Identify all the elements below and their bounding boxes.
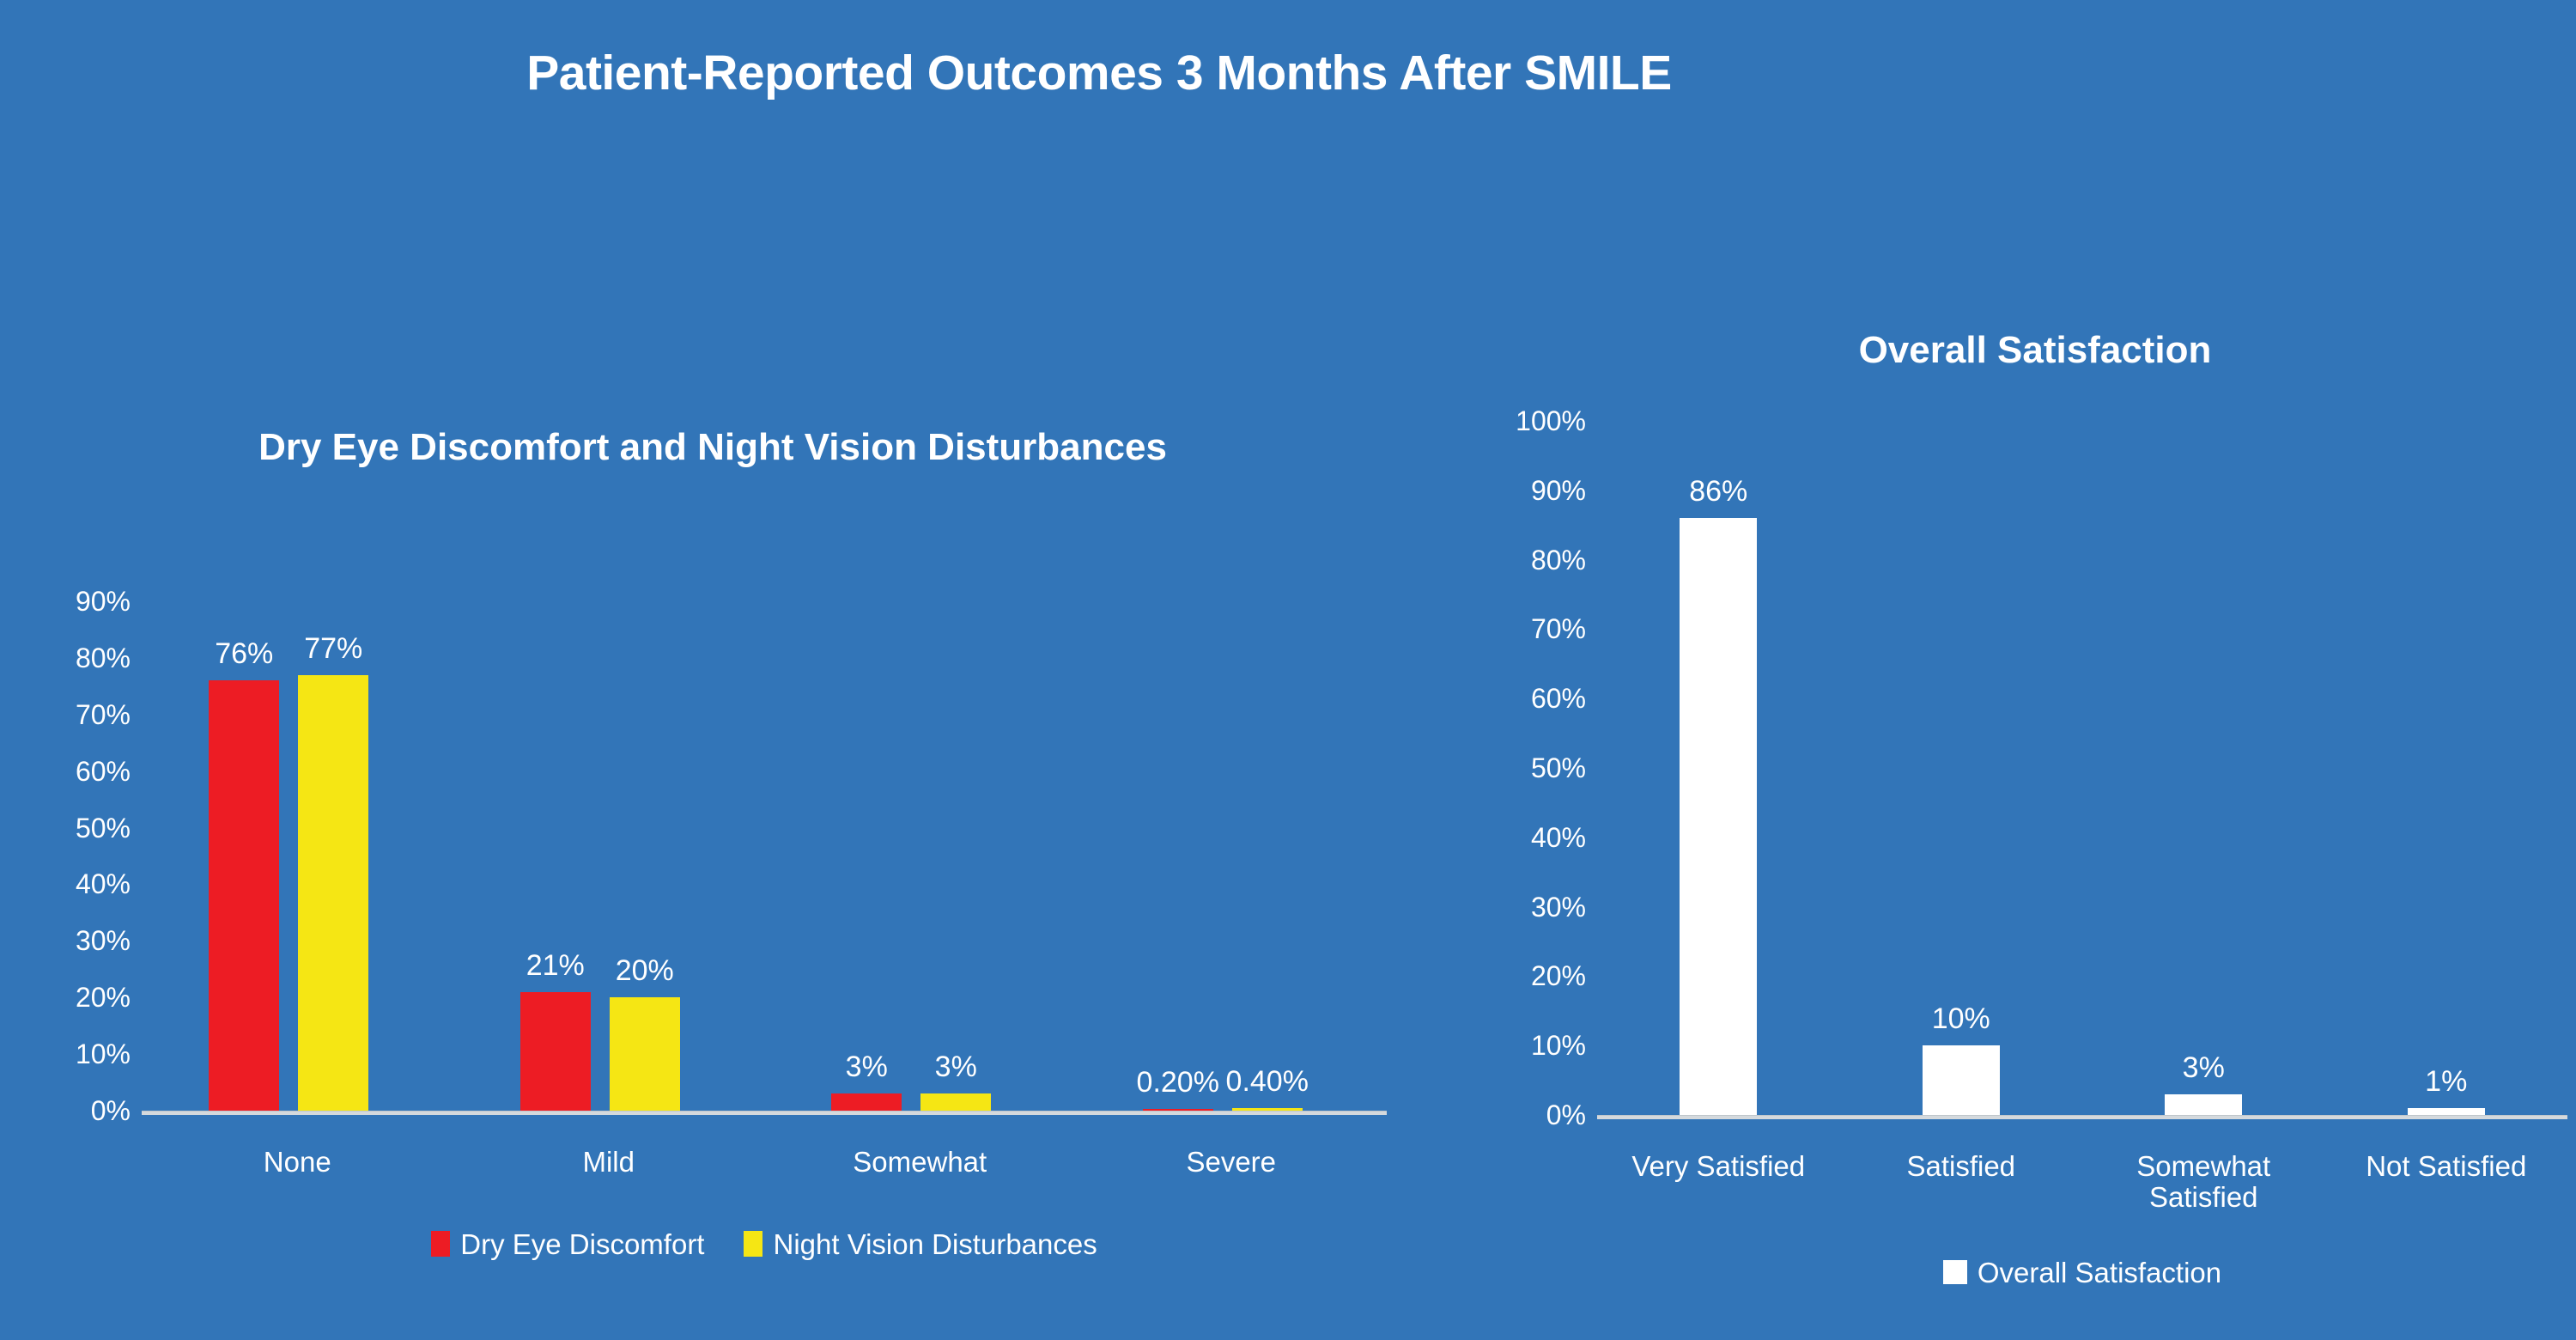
chart-right-legend: Overall Satisfaction	[1597, 1252, 2567, 1292]
y-axis-tick-90pct: 90%	[34, 588, 131, 615]
y-axis-tick-80pct: 80%	[34, 644, 131, 672]
bar-value-label: 20%	[568, 956, 722, 985]
legend-swatch-red	[431, 1231, 450, 1257]
bar-value-label: 1%	[2369, 1067, 2524, 1096]
category-label-severe: Severe	[1076, 1147, 1388, 1178]
category-label-satisfied: Satisfied	[1840, 1151, 2083, 1182]
chart-right-title: Overall Satisfaction	[1769, 328, 2301, 373]
y-axis-tick-20pct: 20%	[1490, 962, 1586, 990]
bar-right-very-satisfied-overall-satisfaction[interactable]	[1680, 518, 1757, 1115]
category-label-somewhat: Somewhat	[764, 1147, 1076, 1178]
y-axis-tick-30pct: 30%	[1490, 893, 1586, 921]
y-axis-tick-0pct: 0%	[1490, 1101, 1586, 1129]
y-axis-tick-70pct: 70%	[1490, 615, 1586, 643]
bar-value-label: 3%	[2126, 1053, 2281, 1082]
y-axis-tick-60pct: 60%	[34, 758, 131, 785]
bar-right-somewhat-satisfied-overall-satisfaction[interactable]	[2165, 1094, 2242, 1115]
legend-swatch-yellow	[744, 1231, 762, 1257]
legend-label-dry-eye-discomfort: Dry Eye Discomfort	[460, 1230, 704, 1258]
chart-left-plot-area: 76%77%21%20%3%3%0.20%0.40%	[142, 601, 1387, 1111]
y-axis-tick-40pct: 40%	[1490, 824, 1586, 851]
y-axis-tick-50pct: 50%	[1490, 754, 1586, 782]
bar-left-somewhat-dry-eye-discomfort[interactable]	[831, 1093, 902, 1111]
y-axis-tick-90pct: 90%	[1490, 477, 1586, 504]
bar-right-satisfied-overall-satisfaction[interactable]	[1923, 1045, 2000, 1115]
bar-right-not-satisfied-overall-satisfaction[interactable]	[2408, 1108, 2485, 1115]
bar-left-mild-dry-eye-discomfort[interactable]	[520, 992, 591, 1111]
category-label-not-satisfied: Not Satisfied	[2325, 1151, 2568, 1182]
slide-canvas: Patient-Reported Outcomes 3 Months After…	[0, 0, 2576, 1340]
bar-value-label: 0.40%	[1190, 1067, 1345, 1096]
bar-left-none-night-vision-disturbances[interactable]	[298, 675, 368, 1111]
bar-left-none-dry-eye-discomfort[interactable]	[209, 680, 279, 1111]
y-axis-tick-40pct: 40%	[34, 870, 131, 898]
y-axis-tick-10pct: 10%	[34, 1040, 131, 1068]
y-axis-tick-80pct: 80%	[1490, 546, 1586, 574]
category-label-none: None	[142, 1147, 453, 1178]
legend-swatch-white	[1943, 1260, 1967, 1284]
chart-dry-eye-night-vision: Dry Eye Discomfort and Night Vision Dist…	[0, 0, 1460, 1340]
y-axis-tick-0pct: 0%	[34, 1097, 131, 1124]
legend-label-night-vision-disturbances: Night Vision Disturbances	[773, 1230, 1097, 1258]
bar-left-mild-night-vision-disturbances[interactable]	[610, 997, 680, 1111]
chart-right-x-axis	[1597, 1115, 2567, 1119]
bar-value-label: 10%	[1884, 1004, 2038, 1033]
legend-item-night-vision-disturbances[interactable]: Night Vision Disturbances	[744, 1230, 1097, 1258]
category-label-somewhat-satisfied: Somewhat Satisfied	[2082, 1151, 2325, 1214]
y-axis-tick-30pct: 30%	[34, 927, 131, 954]
bar-left-somewhat-night-vision-disturbances[interactable]	[920, 1093, 991, 1111]
y-axis-tick-20pct: 20%	[34, 984, 131, 1011]
legend-item-overall-satisfaction[interactable]: Overall Satisfaction	[1943, 1258, 2221, 1287]
chart-left-x-axis	[142, 1111, 1387, 1115]
legend-label-overall-satisfaction: Overall Satisfaction	[1978, 1258, 2221, 1287]
chart-right-plot-area: 86%10%3%1%	[1597, 421, 2567, 1115]
bar-value-label: 77%	[256, 634, 410, 663]
chart-left-title: Dry Eye Discomfort and Night Vision Dist…	[249, 425, 1176, 470]
y-axis-tick-70pct: 70%	[34, 701, 131, 728]
chart-left-legend: Dry Eye Discomfort Night Vision Disturba…	[142, 1224, 1387, 1264]
y-axis-tick-10pct: 10%	[1490, 1032, 1586, 1059]
category-label-mild: Mild	[453, 1147, 765, 1178]
y-axis-tick-60pct: 60%	[1490, 685, 1586, 712]
y-axis-tick-50pct: 50%	[34, 814, 131, 842]
chart-overall-satisfaction: Overall Satisfaction 86%10%3%1% 100%90%8…	[1460, 0, 2576, 1340]
y-axis-tick-100pct: 100%	[1490, 407, 1586, 435]
bar-value-label: 86%	[1641, 477, 1795, 506]
legend-item-dry-eye-discomfort[interactable]: Dry Eye Discomfort	[431, 1230, 704, 1258]
category-label-very-satisfied: Very Satisfied	[1597, 1151, 1840, 1182]
bar-value-label: 3%	[878, 1052, 1033, 1081]
